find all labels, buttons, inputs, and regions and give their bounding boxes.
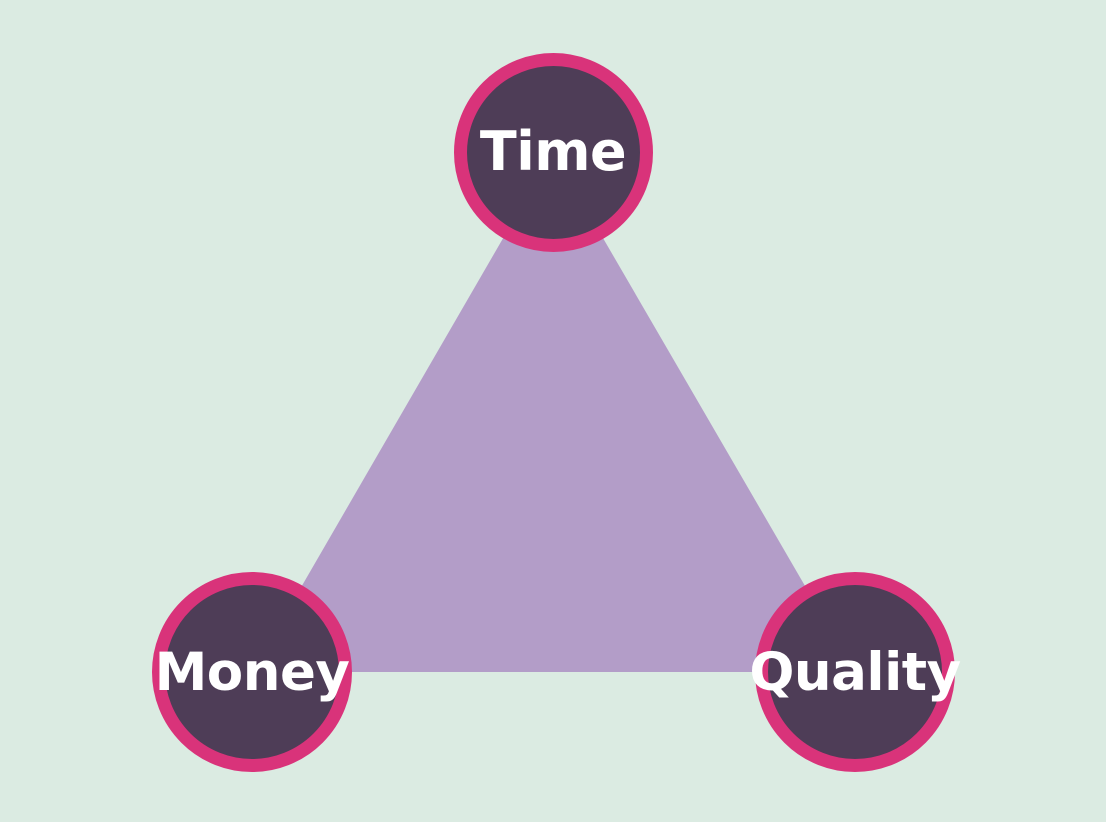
node-quality[interactable]: Quality bbox=[755, 572, 955, 772]
node-quality-label: Quality bbox=[749, 646, 960, 699]
diagram-canvas: Time Money Quality bbox=[0, 0, 1106, 822]
node-money[interactable]: Money bbox=[152, 572, 352, 772]
node-money-label: Money bbox=[155, 646, 350, 699]
node-time-label: Time bbox=[480, 125, 626, 179]
node-time[interactable]: Time bbox=[454, 53, 653, 252]
